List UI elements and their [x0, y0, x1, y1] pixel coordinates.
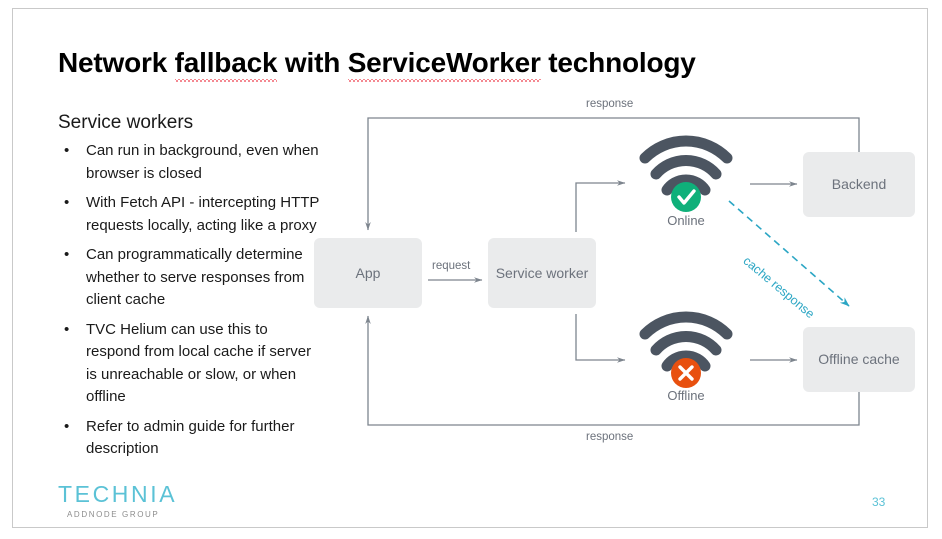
status-label-online: Online [636, 213, 736, 228]
bullet-marker-icon: • [64, 140, 69, 163]
title-segment: technology [541, 47, 696, 78]
edge-label-response-top: response [586, 98, 633, 110]
node-backend-label: Backend [832, 175, 886, 193]
list-item: • TVC Helium can use this to respond fro… [58, 319, 320, 409]
node-service-worker-label: Service worker [496, 264, 589, 282]
list-item-text: Refer to admin guide for further descrip… [86, 418, 294, 458]
list-item-text: Can run in background, even when browser… [86, 142, 319, 182]
section-subheading: Service workers [58, 112, 193, 134]
slide-canvas: Network fallback with ServiceWorker tech… [0, 0, 942, 539]
list-item-text: Can programmatically determine whether t… [86, 246, 304, 308]
title-segment-misspelled: ServiceWorker [348, 47, 541, 79]
node-offline-cache-label: Offline cache [818, 350, 899, 368]
brand-logo: TECHNIA ADDNODE GROUP [58, 481, 177, 519]
bullet-marker-icon: • [64, 192, 69, 215]
bullet-marker-icon: • [64, 244, 69, 267]
node-backend[interactable]: Backend [803, 152, 915, 217]
status-label-offline: Offline [636, 388, 736, 403]
title-segment-misspelled: fallback [175, 47, 278, 79]
page-number: 33 [872, 495, 885, 509]
bullet-marker-icon: • [64, 319, 69, 342]
list-item-text: TVC Helium can use this to respond from … [86, 321, 311, 406]
title-segment: with [277, 47, 347, 78]
bullet-marker-icon: • [64, 416, 69, 439]
brand-logo-name: TECHNIA [58, 481, 177, 508]
node-offline-cache[interactable]: Offline cache [803, 327, 915, 392]
list-item-text: With Fetch API - intercepting HTTP reque… [86, 194, 319, 234]
brand-logo-tagline: ADDNODE GROUP [67, 510, 177, 519]
title-segment: Network [58, 47, 175, 78]
list-item: • Can programmatically determine whether… [58, 244, 320, 312]
list-item: • Refer to admin guide for further descr… [58, 416, 320, 461]
list-item: • With Fetch API - intercepting HTTP req… [58, 192, 320, 237]
page-title: Network fallback with ServiceWorker tech… [58, 47, 696, 79]
bullet-list: • Can run in background, even when brows… [58, 140, 320, 468]
edge-label-response-bottom: response [586, 431, 633, 443]
node-service-worker[interactable]: Service worker [488, 238, 596, 308]
edge-label-request: request [432, 260, 470, 272]
list-item: • Can run in background, even when brows… [58, 140, 320, 185]
node-app[interactable]: App [314, 238, 422, 308]
node-app-label: App [356, 264, 381, 282]
